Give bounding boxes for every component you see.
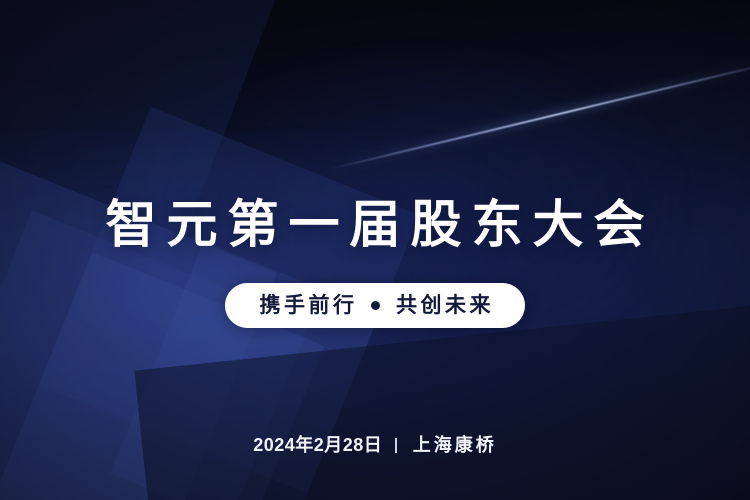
event-poster: 智元第一届股东大会 携手前行 共创未来 2024年2月28日 上海康桥: [0, 0, 750, 500]
footer-meta: 2024年2月28日 上海康桥: [0, 436, 750, 454]
slogan-text-right: 共创未来: [393, 295, 495, 316]
event-date: 2024年2月28日: [253, 436, 382, 454]
bullet-dot-icon: [371, 301, 380, 310]
poster-content: 智元第一届股东大会 携手前行 共创未来 2024年2月28日 上海康桥: [0, 0, 750, 500]
event-location: 上海康桥: [410, 436, 497, 454]
page-title: 智元第一届股东大会: [0, 199, 750, 250]
slogan-row: 携手前行 共创未来: [0, 283, 750, 328]
vertical-bar-icon: [395, 438, 397, 453]
slogan-badge: 携手前行 共创未来: [225, 283, 525, 328]
slogan-text-left: 携手前行: [256, 295, 358, 316]
